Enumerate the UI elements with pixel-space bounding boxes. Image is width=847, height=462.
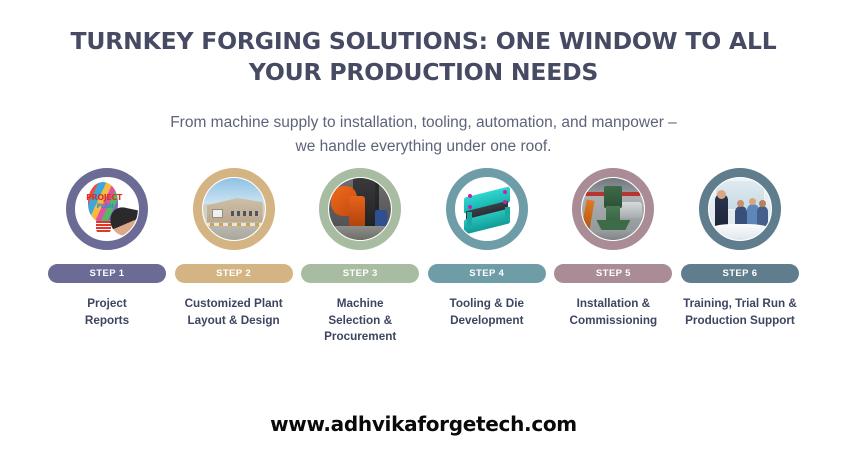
step-5-label-line-1: Installation & <box>577 297 650 310</box>
page-subtitle: From machine supply to installation, too… <box>100 111 747 159</box>
step-2-image-frame <box>203 178 265 240</box>
footer-website-url[interactable]: www.adhvikaforgetech.com <box>0 412 847 436</box>
step-5-ring <box>572 168 654 250</box>
infographic-slide: TURNKEY FORGING SOLUTIONS: ONE WINDOW TO… <box>0 0 847 462</box>
step-card-5[interactable]: STEP 5 Installation & Commissioning <box>554 168 672 329</box>
step-6-label-line-2: Production Support <box>685 314 795 327</box>
machine-installation-icon <box>582 178 644 240</box>
step-1-label-line-1: Project <box>87 297 127 310</box>
step-6-ring <box>699 168 781 250</box>
step-card-3[interactable]: STEP 3 Machine Selection & Procurement <box>301 168 419 346</box>
step-4-badge: STEP 4 <box>428 264 546 283</box>
step-3-label-line-1: Machine <box>337 297 384 310</box>
training-meeting-icon <box>709 178 771 240</box>
step-6-label-line-1: Training, Trial Run & <box>683 297 797 310</box>
step-5-label: Installation & Commissioning <box>551 296 675 329</box>
step-card-6[interactable]: STEP 6 Training, Trial Run & Production … <box>681 168 799 329</box>
die-mold-3d-icon <box>456 178 518 240</box>
step-4-label: Tooling & Die Development <box>425 296 549 329</box>
step-card-4[interactable]: STEP 4 Tooling & Die Development <box>428 168 546 329</box>
step-4-ring <box>446 168 528 250</box>
step-3-image-frame <box>329 178 391 240</box>
step-1-badge: STEP 1 <box>48 264 166 283</box>
step-2-badge: STEP 2 <box>175 264 293 283</box>
factory-building-icon <box>203 178 265 240</box>
step-3-badge: STEP 3 <box>301 264 419 283</box>
step-4-label-line-2: Development <box>450 314 523 327</box>
step-5-badge: STEP 5 <box>554 264 672 283</box>
step-card-2[interactable]: STEP 2 Customized Plant Layout & Design <box>175 168 293 329</box>
step-5-label-line-2: Commissioning <box>570 314 658 327</box>
step-6-badge: STEP 6 <box>681 264 799 283</box>
step-2-ring <box>193 168 275 250</box>
subtitle-line-2: we handle everything under one roof. <box>296 138 552 155</box>
step-2-label-line-2: Layout & Design <box>187 314 279 327</box>
forging-press-machine-icon <box>329 178 391 240</box>
step-1-label-line-2: Reports <box>85 314 129 327</box>
step-2-label-line-1: Customized Plant <box>185 297 283 310</box>
step-1-ring: PROJECT PLAN <box>66 168 148 250</box>
step-4-image-frame <box>456 178 518 240</box>
step-6-label: Training, Trial Run & Production Support <box>678 296 802 329</box>
step-4-label-line-1: Tooling & Die <box>450 297 524 310</box>
page-title: TURNKEY FORGING SOLUTIONS: ONE WINDOW TO… <box>60 26 787 88</box>
step-3-label-line-2: Selection & <box>328 314 392 327</box>
step-2-label: Customized Plant Layout & Design <box>172 296 296 329</box>
step-card-1[interactable]: PROJECT PLAN STEP 1 Project Reports <box>48 168 166 329</box>
step-5-image-frame <box>582 178 644 240</box>
project-report-lightbulb-icon: PROJECT PLAN <box>76 178 138 240</box>
step-1-image-frame: PROJECT PLAN <box>76 178 138 240</box>
subtitle-line-1: From machine supply to installation, too… <box>170 114 677 131</box>
step-1-label: Project Reports <box>45 296 169 329</box>
step-3-label: Machine Selection & Procurement <box>298 296 422 346</box>
step-3-label-line-3: Procurement <box>324 330 396 343</box>
step-3-ring <box>319 168 401 250</box>
steps-row: PROJECT PLAN STEP 1 Project Reports <box>48 168 799 346</box>
step-6-image-frame <box>709 178 771 240</box>
